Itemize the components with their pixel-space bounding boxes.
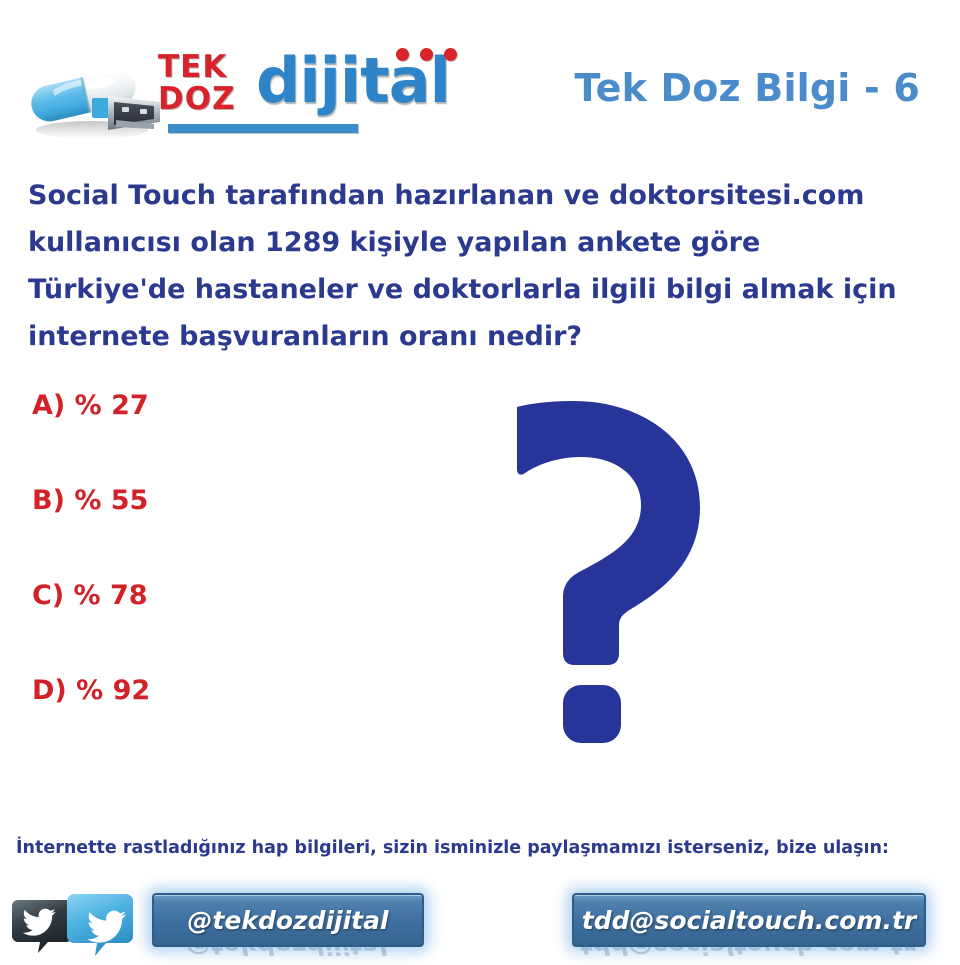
answer-option-d[interactable]: D) % 92: [32, 675, 332, 770]
logo-doz-text: DOZ: [158, 84, 236, 115]
logo-wordmark: TEK DOZ dijital: [158, 42, 458, 142]
logo-dot-icon: [396, 48, 409, 61]
answer-option-c[interactable]: C) % 78: [32, 580, 332, 675]
twitter-handle-button[interactable]: @tekdozdijital: [152, 893, 424, 947]
question-mark-icon: [495, 385, 735, 745]
twitter-handle-reflection: @tekdozdijital: [152, 946, 420, 960]
page-title: Tek Doz Bilgi - 6: [575, 66, 920, 110]
answer-option-a[interactable]: A) % 27: [32, 390, 332, 485]
header: TEK DOZ dijital Tek Doz Bilgi - 6: [0, 0, 960, 160]
social-icons-group[interactable]: [8, 888, 138, 960]
brand-logo: TEK DOZ dijital: [30, 40, 450, 150]
logo-dijital-text: dijital: [256, 50, 450, 112]
footer-note: İnternette rastladığınız hap bilgileri, …: [16, 838, 889, 858]
twitter-icon-dark: [12, 900, 72, 953]
logo-dot-icon: [420, 48, 433, 61]
logo-underbar: [168, 124, 358, 133]
logo-dot-icon: [444, 48, 457, 61]
poster-canvas: TEK DOZ dijital Tek Doz Bilgi - 6 Social…: [0, 0, 960, 960]
logo-tek-text: TEK: [158, 52, 227, 83]
email-button[interactable]: tdd@socialtouch.com.tr: [572, 893, 926, 947]
question-text: Social Touch tarafından hazırlanan ve do…: [28, 172, 918, 360]
email-reflection: tdd@socialtouch.com.tr: [572, 946, 922, 960]
answer-options-list: A) % 27 B) % 55 C) % 78 D) % 92: [32, 390, 332, 770]
twitter-icon-blue: [67, 894, 133, 956]
answer-option-b[interactable]: B) % 55: [32, 485, 332, 580]
